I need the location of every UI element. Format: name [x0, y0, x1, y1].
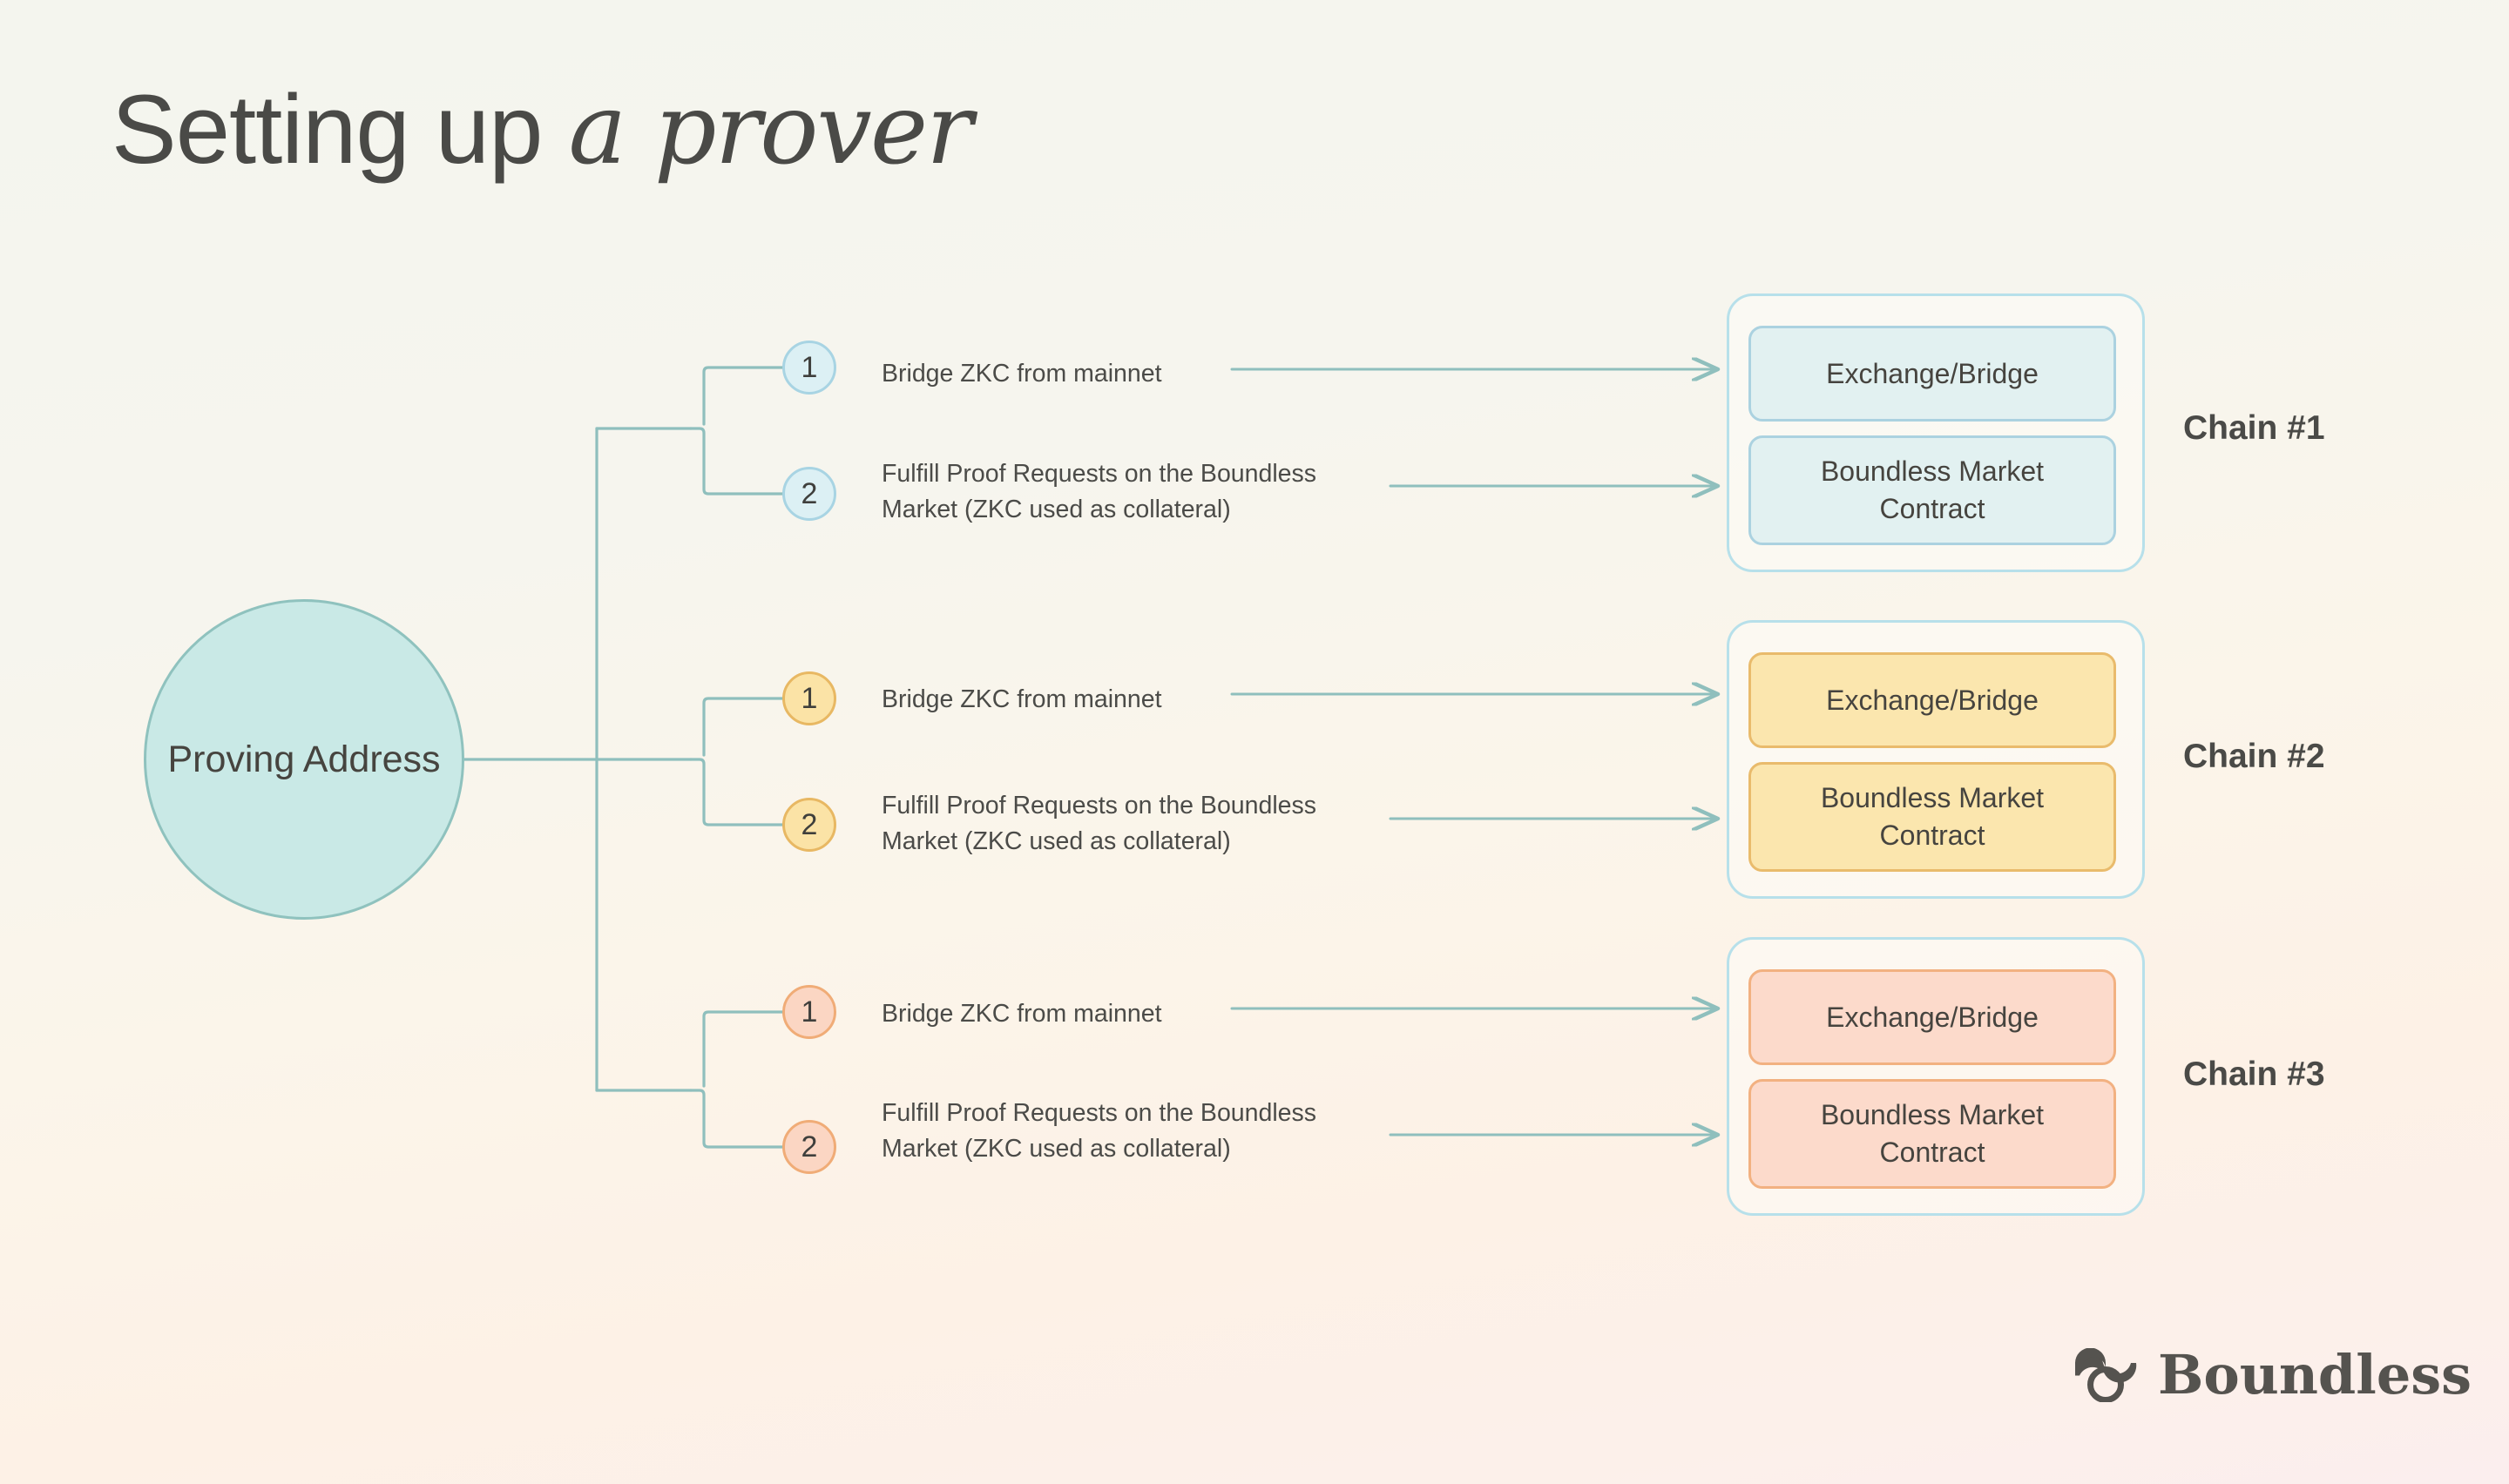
step-number-text: 2 [801, 808, 818, 842]
chain2-step1-label: Bridge ZKC from mainnet [882, 682, 1162, 718]
chain3-exchange-bridge-box: Exchange/Bridge [1748, 969, 2116, 1065]
chain3-group: Exchange/Bridge Boundless Market Contrac… [1727, 937, 2145, 1216]
chain2-market-contract-box: Boundless Market Contract [1748, 762, 2116, 872]
chain1-step1-number: 1 [782, 341, 836, 395]
box-label: Exchange/Bridge [1826, 999, 2039, 1036]
chain3-step2-number: 2 [782, 1120, 836, 1174]
proving-address-node: Proving Address [144, 599, 464, 920]
page-title: Setting up a prover [112, 80, 971, 179]
chain1-step2-number: 2 [782, 467, 836, 521]
chain1-exchange-bridge-box: Exchange/Bridge [1748, 326, 2116, 422]
chain3-label: Chain #3 [2183, 1056, 2325, 1094]
boundless-wordmark: Boundless [2158, 1348, 2472, 1402]
step-number-text: 2 [801, 1130, 818, 1164]
box-label: Boundless Market Contract [1821, 779, 2044, 854]
chain3-step1-label: Bridge ZKC from mainnet [882, 996, 1162, 1032]
chain2-step1-number: 1 [782, 671, 836, 725]
step-number-text: 1 [801, 351, 818, 385]
chain1-group: Exchange/Bridge Boundless Market Contrac… [1727, 293, 2145, 572]
chain2-label: Chain #2 [2183, 738, 2325, 776]
page-title-italic: a prover [569, 73, 971, 186]
proving-address-label: Proving Address [167, 737, 440, 782]
chain2-group: Exchange/Bridge Boundless Market Contrac… [1727, 620, 2145, 899]
chain2-step2-number: 2 [782, 798, 836, 852]
chain1-label: Chain #1 [2183, 409, 2325, 448]
chain3-market-contract-box: Boundless Market Contract [1748, 1079, 2116, 1189]
step-number-text: 2 [801, 477, 818, 511]
box-label: Boundless Market Contract [1821, 1096, 2044, 1171]
slide-canvas: Setting up a prover [0, 0, 2509, 1484]
boundless-logo: Boundless [2073, 1348, 2472, 1402]
box-label: Exchange/Bridge [1826, 682, 2039, 719]
chain2-exchange-bridge-box: Exchange/Bridge [1748, 652, 2116, 748]
chain3-step1-number: 1 [782, 985, 836, 1039]
boundless-mark-icon [2073, 1348, 2139, 1402]
box-label: Boundless Market Contract [1821, 453, 2044, 528]
chain2-step2-label: Fulfill Proof Requests on the Boundless … [882, 788, 1316, 860]
chain1-market-contract-box: Boundless Market Contract [1748, 435, 2116, 545]
chain1-step1-label: Bridge ZKC from mainnet [882, 356, 1162, 392]
box-label: Exchange/Bridge [1826, 355, 2039, 393]
step-number-text: 1 [801, 995, 818, 1029]
step-number-text: 1 [801, 682, 818, 716]
chain3-step2-label: Fulfill Proof Requests on the Boundless … [882, 1096, 1316, 1167]
page-title-roman: Setting up [112, 75, 569, 184]
chain1-step2-label: Fulfill Proof Requests on the Boundless … [882, 456, 1316, 528]
